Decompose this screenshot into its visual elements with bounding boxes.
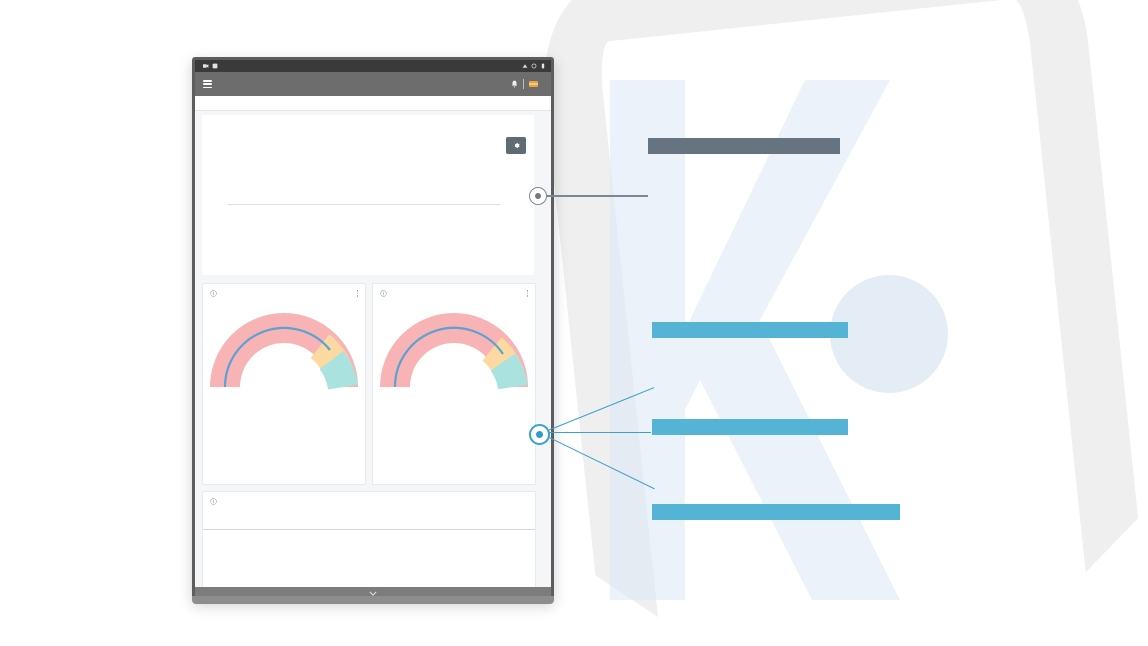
nav-divider [523,79,524,89]
info-icon [380,290,387,297]
gauge-svg [373,301,535,393]
results-table [203,519,535,530]
card-header [203,492,535,505]
bar-chart [202,115,534,223]
bar-series-group [228,117,500,205]
tablet-screen [195,60,551,599]
bar-plot-area [228,117,500,205]
letter-watermark [590,80,950,600]
app-top-nav [195,72,551,96]
android-status-bar [195,60,551,72]
card-header [373,284,535,297]
gauge-muscles-2 [373,397,535,403]
app-icon [212,63,218,69]
poster-canvas [0,0,1148,646]
symmetry-card-2 [372,283,536,485]
status-right-icons [522,63,546,69]
table-header [203,519,535,530]
nav-right-group [511,79,543,89]
column-header-rms-sec[interactable] [369,519,452,530]
leader-line-asymmetries [543,432,651,433]
table-header-row [203,519,535,530]
gear-glyph [512,141,521,150]
kebab-menu-icon[interactable] [527,290,528,296]
gauge-muscles-1 [203,397,365,403]
symmetry-gauge-2 [373,301,535,393]
gauge-svg [203,301,365,393]
column-header-max[interactable] [452,519,535,530]
gear-icon[interactable] [506,137,526,154]
hamburger-icon[interactable] [203,80,212,88]
connector-hub-gray[interactable] [529,187,547,205]
column-header-seleccion[interactable] [203,519,286,530]
callout-web-platform [648,138,840,154]
connector-hub-blue[interactable] [529,424,550,445]
info-icon [210,498,217,505]
breadcrumb [195,96,551,111]
results-table-card [202,491,536,599]
tablet-device [192,57,554,602]
info-icon [210,290,217,297]
column-header-rms[interactable] [286,519,369,530]
symmetry-gauge-1 [203,301,365,393]
symmetry-card-1 [202,283,366,485]
callout-asymmetries [652,419,848,435]
bell-icon[interactable] [511,80,518,88]
x-axis-line [228,204,500,205]
muscle-activity-chart-card [202,115,534,275]
tablet-stand [192,596,554,604]
callout-inhibition [652,322,848,338]
battery-icon [540,63,546,69]
flag-icon [529,81,538,87]
signal-icon [531,63,537,69]
camera-icon [203,63,209,69]
wifi-icon [522,63,528,69]
dashboard-content[interactable] [195,111,551,599]
kebab-menu-icon[interactable] [357,290,358,296]
callout-coordination [652,504,900,520]
card-header [203,284,365,297]
leader-line-web-platform [538,195,648,197]
